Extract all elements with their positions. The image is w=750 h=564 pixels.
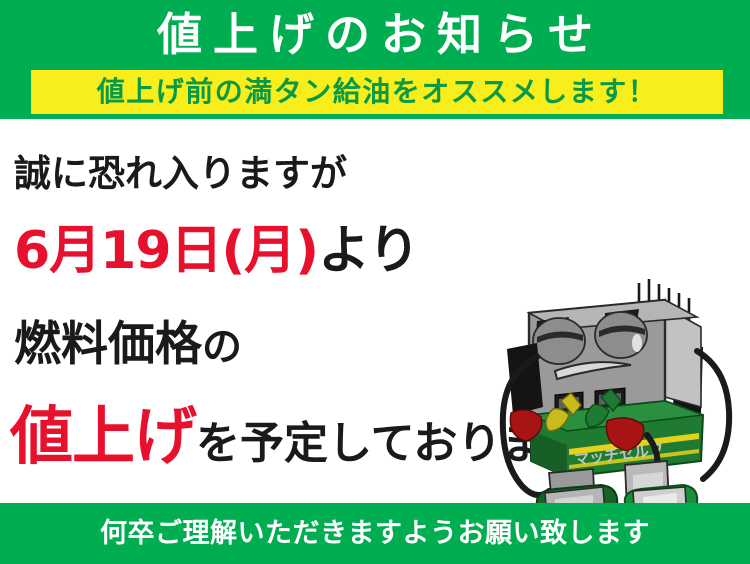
page-title: 値上げのお知らせ bbox=[0, 6, 750, 64]
body-content-area: 誠に恐れ入りますが 6月19日(月)より 燃料価格の 値上げを予定しております bbox=[0, 119, 750, 503]
price-increase-emphasis: 値上げ bbox=[10, 400, 196, 473]
fuel-price-label: 燃料価格 bbox=[14, 317, 202, 372]
footer-green-band: 何卒ご理解いただきますようお願い致します bbox=[0, 503, 750, 564]
header-green-band: 値上げのお知らせ 値上げ前の満タン給油をオススメします！ bbox=[0, 0, 750, 119]
apology-line: 誠に恐れ入りますが bbox=[14, 155, 347, 192]
effective-date-value: 6月19日(月) bbox=[14, 221, 318, 281]
fuel-price-particle: の bbox=[202, 324, 242, 370]
effective-date-suffix: より bbox=[318, 221, 419, 281]
fuel-price-line: 燃料価格の bbox=[14, 321, 242, 368]
head-right-panel bbox=[665, 307, 701, 407]
footer-message: 何卒ご理解いただきますようお願い致します bbox=[100, 520, 650, 547]
subtitle-text: 値上げ前の満タン給油をオススメします！ bbox=[97, 78, 658, 106]
price-increase-poster: 値上げのお知らせ 値上げ前の満タン給油をオススメします！ 誠に恐れ入りますが 6… bbox=[0, 0, 750, 564]
effective-date-line: 6月19日(月)より bbox=[14, 225, 419, 277]
subtitle-yellow-banner: 値上げ前の満タン給油をオススメします！ bbox=[31, 70, 723, 114]
